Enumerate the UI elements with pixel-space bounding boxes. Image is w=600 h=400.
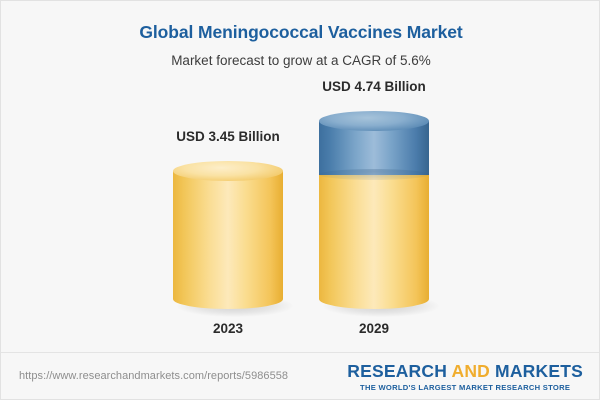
bar-value-label-2029: USD 4.74 Billion <box>274 79 474 94</box>
logo-word-research: RESEARCH <box>347 361 451 381</box>
footer-divider <box>1 352 599 353</box>
cylinder-top-cap <box>319 111 429 131</box>
bar-group-2023: USD 3.45 Billion <box>173 161 283 309</box>
cylinder-2029 <box>319 111 429 309</box>
logo-wordmark: RESEARCH AND MARKETS <box>347 361 583 382</box>
logo-word-and: AND <box>451 361 490 381</box>
chart-plot-area: USD 3.45 Billion USD 4.74 Billion 2023 <box>1 1 600 353</box>
cylinder-segment-seam <box>319 169 429 180</box>
cylinder-2023 <box>173 161 283 309</box>
logo-tagline: THE WORLD'S LARGEST MARKET RESEARCH STOR… <box>347 383 583 392</box>
bar-value-label-2023: USD 3.45 Billion <box>128 129 328 144</box>
logo-word-markets: MARKETS <box>490 361 583 381</box>
cylinder-body-yellow <box>319 171 429 299</box>
cylinder-body-yellow <box>173 171 283 299</box>
x-axis-label-2029: 2029 <box>274 321 474 336</box>
report-url[interactable]: https://www.researchandmarkets.com/repor… <box>19 370 288 382</box>
bar-group-2029: USD 4.74 Billion <box>319 111 429 309</box>
research-and-markets-logo[interactable]: RESEARCH AND MARKETS THE WORLD'S LARGEST… <box>347 361 583 392</box>
infographic-canvas: Global Meningococcal Vaccines Market Mar… <box>0 0 600 400</box>
cylinder-top-cap <box>173 161 283 181</box>
